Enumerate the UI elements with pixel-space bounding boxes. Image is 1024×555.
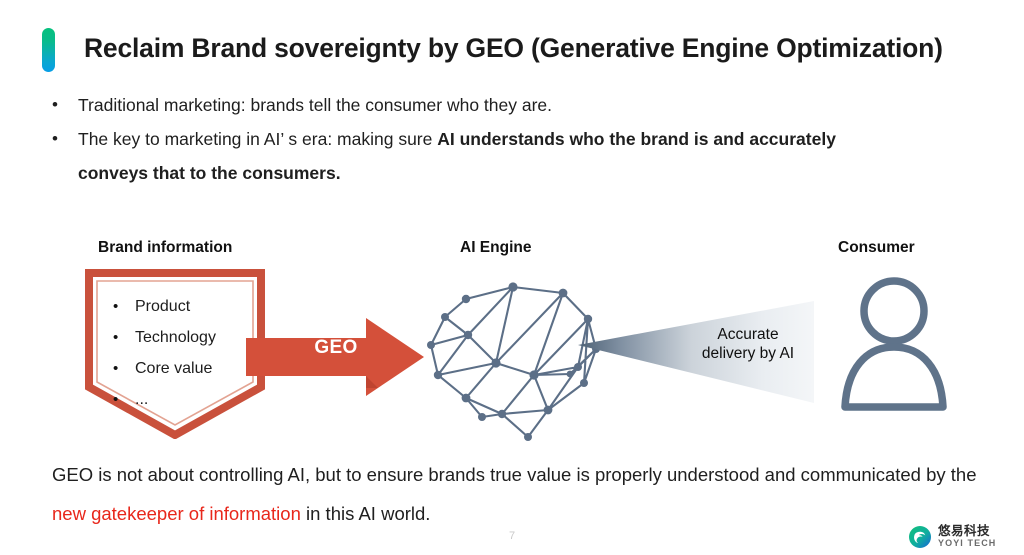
diagram-label-ai-engine: AI Engine: [460, 239, 531, 257]
logo-text-en: YOYI TECH: [938, 538, 996, 549]
summary-part-2: in this AI world.: [301, 503, 431, 524]
bullet-item-1-text: Traditional marketing: brands tell the c…: [78, 95, 552, 115]
bullet-item-2-bold: AI understands who the brand is and accu…: [437, 129, 836, 149]
bullet-marker-icon: •: [52, 122, 58, 156]
bullet-marker-icon: •: [113, 322, 118, 353]
list-item: • Product: [99, 291, 249, 322]
list-item: • ...: [99, 384, 249, 415]
list-item-label: Product: [135, 298, 190, 315]
brand-logo: 悠易科技 YOYI TECH: [908, 524, 1020, 552]
accent-bar-icon: [42, 28, 55, 72]
summary-paragraph: GEO is not about controlling AI, but to …: [52, 455, 992, 533]
slide-canvas: Reclaim Brand sovereignty by GEO (Genera…: [0, 0, 1024, 555]
list-item-label: Core value: [135, 360, 212, 377]
diagram-label-brand-information: Brand information: [98, 239, 232, 257]
page-title: Reclaim Brand sovereignty by GEO (Genera…: [84, 26, 943, 70]
summary-part-1: GEO is not about controlling AI, but to …: [52, 464, 977, 485]
consumer-person-icon: [838, 273, 950, 413]
summary-highlight: new gatekeeper of information: [52, 503, 301, 524]
brand-information-shield: • Product • Technology • Core value • ..…: [85, 269, 265, 439]
page-number: 7: [0, 530, 1024, 542]
beam-caption: Accurate delivery by AI: [678, 325, 818, 363]
bullet-marker-icon: •: [113, 353, 118, 384]
bullet-marker-icon: •: [52, 88, 58, 122]
beam-caption-line2: delivery by AI: [678, 344, 818, 363]
bullet-item-2: • The key to marketing in AI’ s era: mak…: [44, 122, 994, 156]
bullet-marker-icon: •: [113, 291, 118, 322]
logo-text-cn: 悠易科技: [938, 524, 990, 538]
geo-arrow-label: GEO: [286, 337, 386, 359]
bullet-item-1: • Traditional marketing: brands tell the…: [44, 88, 994, 122]
brand-attribute-list: • Product • Technology • Core value • ..…: [99, 291, 249, 415]
bullet-item-2-lead: The key to marketing in AI’ s era: makin…: [78, 129, 437, 149]
bullet-item-2-continuation: conveys that to the consumers.: [44, 156, 994, 190]
list-item: • Technology: [99, 322, 249, 353]
bullet-marker-icon: •: [113, 384, 118, 415]
list-item-label: ...: [135, 391, 148, 408]
list-item: • Core value: [99, 353, 249, 384]
diagram-label-consumer: Consumer: [838, 239, 915, 257]
yoyi-logo-icon: [908, 525, 932, 549]
list-item-label: Technology: [135, 329, 216, 346]
diagram: Brand information AI Engine Consumer • P…: [0, 225, 1024, 460]
beam-caption-line1: Accurate: [678, 325, 818, 344]
bullet-list: • Traditional marketing: brands tell the…: [44, 88, 994, 190]
title-row: Reclaim Brand sovereignty by GEO (Genera…: [42, 26, 992, 74]
